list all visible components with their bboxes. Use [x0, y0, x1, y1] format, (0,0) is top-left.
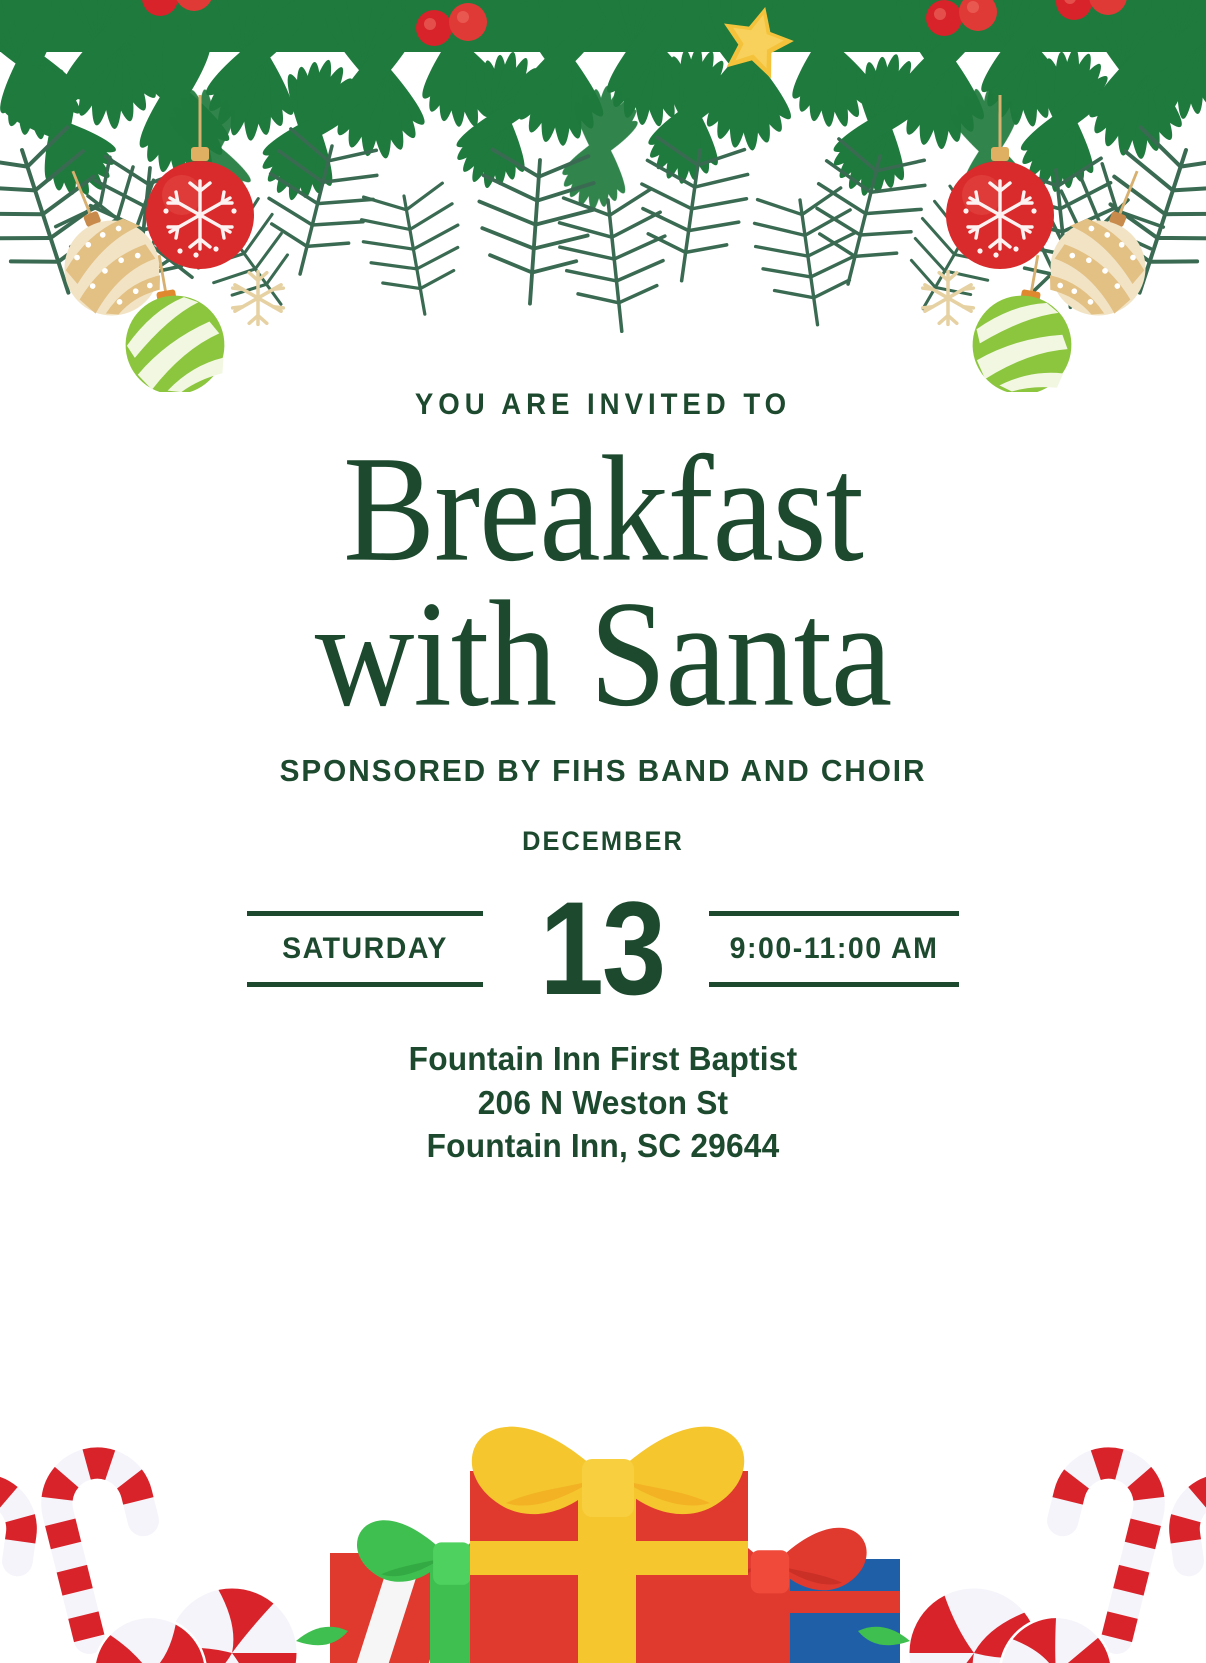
blue-gift-red-bow: [640, 1528, 900, 1663]
weekday-block: SATURDAY: [247, 911, 483, 987]
venue-name: Fountain Inn First Baptist: [24, 1037, 1182, 1081]
month-label: DECEMBER: [36, 826, 1170, 857]
venue-block: Fountain Inn First Baptist 206 N Weston …: [24, 1037, 1182, 1168]
venue-city-state-zip: Fountain Inn, SC 29644: [24, 1124, 1182, 1168]
time-rule-bottom: [709, 982, 959, 987]
page-title: Breakfast with Santa: [0, 443, 1206, 719]
peppermint-swirl: [977, 1594, 1135, 1663]
weekday-rule-bottom: [247, 982, 483, 987]
candy-cane: [0, 1484, 27, 1659]
title-line-1: Breakfast: [0, 436, 1206, 580]
peppermint-swirl: [71, 1594, 229, 1663]
peppermint-swirl: [908, 1587, 1040, 1663]
time-block: 9:00-11:00 AM: [709, 911, 959, 987]
date-time-strip: SATURDAY 13 9:00-11:00 AM: [0, 887, 1206, 1011]
title-line-2: with Santa: [0, 582, 1206, 726]
bottom-decorative-border: [0, 1323, 1206, 1663]
peppermint-swirl: [166, 1587, 298, 1663]
candy-cane: [1179, 1484, 1206, 1659]
candy-cane: [1038, 1454, 1158, 1638]
venue-street: 206 N Weston St: [24, 1081, 1182, 1125]
green-sprig: [296, 1627, 910, 1645]
eyebrow-text: YOU ARE INVITED TO: [48, 388, 1158, 421]
sponsor-text: SPONSORED BY FIHS BAND AND CHOIR: [24, 753, 1182, 789]
day-number: 13: [540, 883, 665, 1016]
invitation-content: YOU ARE INVITED TO Breakfast with Santa …: [0, 0, 1206, 1168]
candy-cane: [48, 1454, 168, 1638]
red-gift-yellow-bow: [470, 1427, 748, 1663]
striped-gift-green-bow: [330, 1520, 580, 1663]
weekday-label: SATURDAY: [253, 916, 477, 982]
time-label: 9:00-11:00 AM: [715, 916, 953, 982]
